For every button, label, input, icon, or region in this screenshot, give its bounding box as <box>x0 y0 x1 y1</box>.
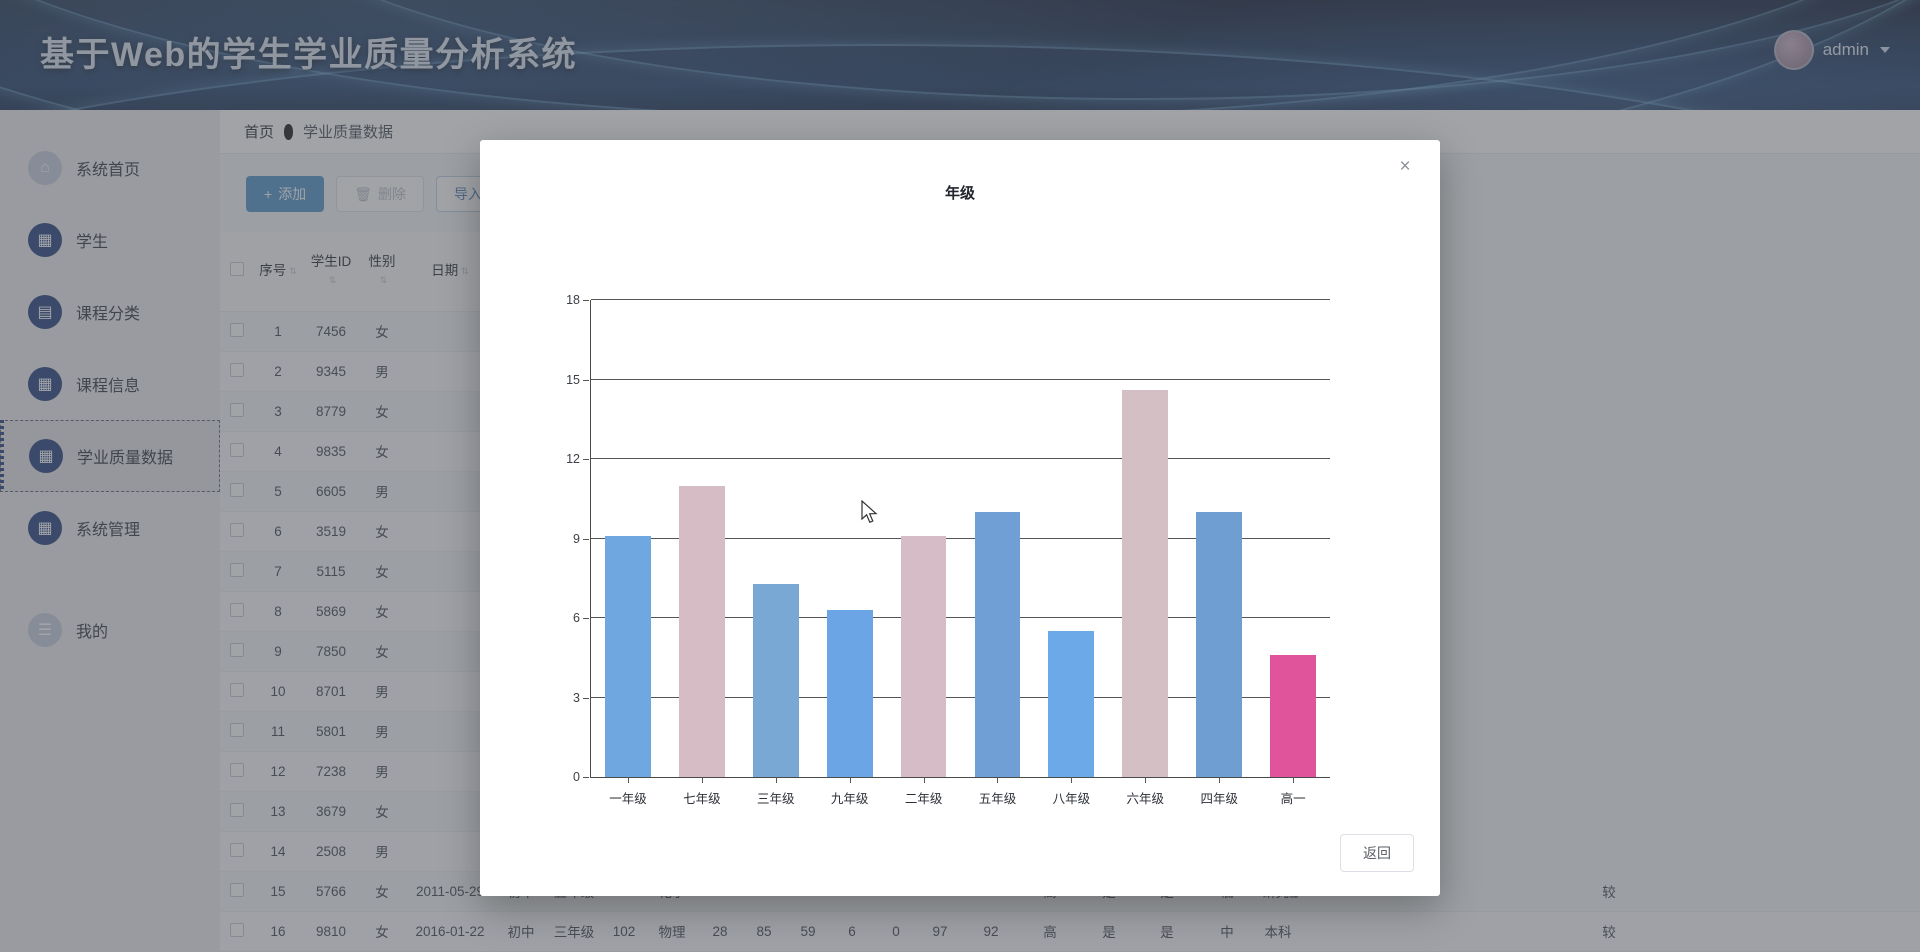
bar-slot[interactable] <box>591 300 665 777</box>
y-axis-tick: 15 <box>566 373 580 387</box>
x-axis-label: 七年级 <box>665 788 739 807</box>
x-axis-label: 三年级 <box>739 788 813 807</box>
bar[interactable] <box>1122 390 1168 777</box>
bar[interactable] <box>901 536 947 777</box>
x-axis-label: 八年级 <box>1034 788 1108 807</box>
bar[interactable] <box>1270 655 1316 777</box>
bar-slot[interactable] <box>887 300 961 777</box>
chart-modal: × 年级 0369121518 一年级七年级三年级九年级二年级五年级八年级六年级… <box>480 140 1440 896</box>
x-axis-label: 五年级 <box>961 788 1035 807</box>
y-axis-tick: 0 <box>573 770 580 784</box>
x-axis-label: 四年级 <box>1182 788 1256 807</box>
bar-slot[interactable] <box>1256 300 1330 777</box>
y-axis-tick: 3 <box>573 691 580 705</box>
bar[interactable] <box>605 536 651 777</box>
chart-title: 年级 <box>480 182 1440 203</box>
bar-series <box>591 300 1330 777</box>
mouse-cursor-icon <box>861 500 879 525</box>
close-icon[interactable]: × <box>1392 154 1418 180</box>
bar[interactable] <box>1048 631 1094 777</box>
x-axis-label: 高一 <box>1256 788 1330 807</box>
modal-footer: 返回 <box>1340 834 1414 872</box>
y-axis-tick: 6 <box>573 611 580 625</box>
x-axis-labels: 一年级七年级三年级九年级二年级五年级八年级六年级四年级高一 <box>591 788 1330 807</box>
x-axis-label: 二年级 <box>887 788 961 807</box>
bar-slot[interactable] <box>739 300 813 777</box>
back-button[interactable]: 返回 <box>1340 834 1414 872</box>
plot-frame: 0369121518 一年级七年级三年级九年级二年级五年级八年级六年级四年级高一 <box>590 300 1330 778</box>
bar-chart: 0369121518 一年级七年级三年级九年级二年级五年级八年级六年级四年级高一 <box>480 212 1440 812</box>
bar-slot[interactable] <box>1034 300 1108 777</box>
bar[interactable] <box>975 512 1021 777</box>
x-axis-label: 六年级 <box>1108 788 1182 807</box>
bar-slot[interactable] <box>961 300 1035 777</box>
chart-plot-area: 0369121518 一年级七年级三年级九年级二年级五年级八年级六年级四年级高一 <box>590 300 1330 778</box>
bar[interactable] <box>827 610 873 777</box>
y-axis-tick: 9 <box>573 532 580 546</box>
bar-slot[interactable] <box>1108 300 1182 777</box>
bar-slot[interactable] <box>813 300 887 777</box>
bar-slot[interactable] <box>1182 300 1256 777</box>
y-axis-tick: 12 <box>566 452 580 466</box>
x-axis-label: 九年级 <box>813 788 887 807</box>
bar-slot[interactable] <box>665 300 739 777</box>
bar[interactable] <box>679 486 725 778</box>
x-axis-label: 一年级 <box>591 788 665 807</box>
bar[interactable] <box>753 584 799 777</box>
y-axis-tick: 18 <box>566 293 580 307</box>
bar[interactable] <box>1196 512 1242 777</box>
